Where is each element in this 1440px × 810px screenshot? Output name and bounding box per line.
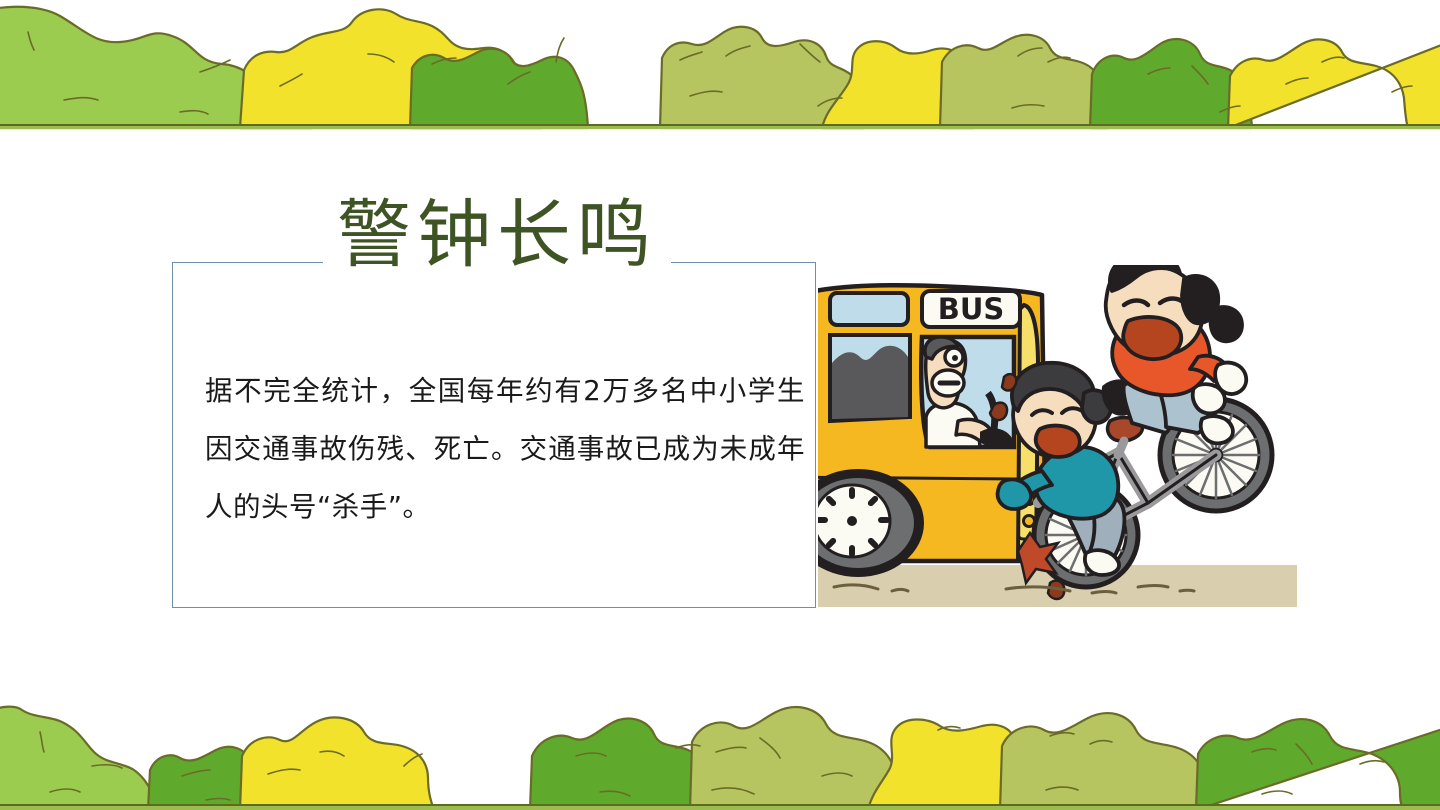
traffic-accident-illustration: BUS [818, 265, 1297, 607]
bus-passenger-window [830, 335, 910, 421]
bottom-bush-border [0, 680, 1440, 810]
slide-title-wrap: 警钟长鸣 [0, 198, 1440, 272]
body-text-block: 据不完全统计，全国每年约有2万多名中小学生因交通事故伤残、死亡。交通事故已成为未… [205, 362, 805, 536]
bottom-bush-art [0, 680, 1440, 810]
bus-sign-label: BUS [938, 292, 1005, 326]
bus-upper-window [830, 293, 908, 325]
slide-canvas: 警钟长鸣 据不完全统计，全国每年约有2万多名中小学生因交通事故伤残、死亡。交通事… [0, 0, 1440, 810]
page-title: 警钟长鸣 [323, 198, 671, 272]
body-paragraph: 据不完全统计，全国每年约有2万多名中小学生因交通事故伤残、死亡。交通事故已成为未… [205, 362, 805, 536]
bus-bicycle-collision-art: BUS [818, 265, 1297, 607]
top-bush-border [0, 0, 1440, 130]
bus-destination-sign: BUS [922, 291, 1020, 327]
top-bush-art [0, 0, 1440, 130]
